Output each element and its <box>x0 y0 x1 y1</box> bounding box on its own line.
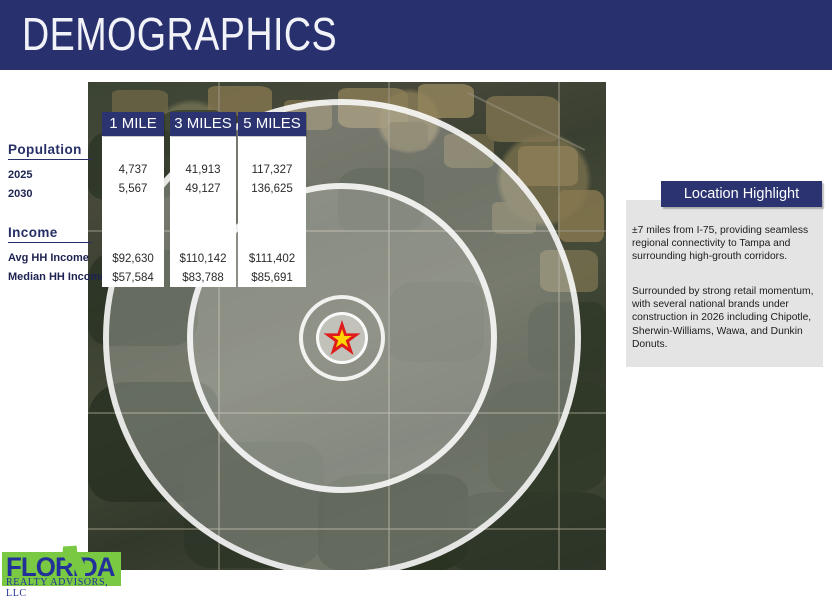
logo-tagline: REALTY ADVISORS, LLC <box>6 577 121 599</box>
map-forest-patch <box>184 442 324 568</box>
map-road <box>88 528 606 530</box>
cell-1mile-median-income: $57,584 <box>102 269 164 288</box>
cell-1mile-avg-income: $92,630 <box>102 250 164 269</box>
demographics-column-5miles-panel: 117,327 136,625 $111,402 $85,691 <box>238 133 306 287</box>
location-highlight-paragraph-1: ±7 miles from I-75, providing seamless r… <box>632 224 814 264</box>
map-field-patch <box>388 122 428 150</box>
section-heading-income: Income <box>8 225 100 242</box>
section-heading-population: Population <box>8 142 100 159</box>
cell-5miles-pop-2030: 136,625 <box>238 180 306 199</box>
map-field-patch <box>444 134 494 168</box>
cell-5miles-pop-2025: 117,327 <box>238 161 306 180</box>
company-logo[interactable]: FLORIDA REALTY ADVISORS, LLC <box>2 533 121 586</box>
map-field-patch <box>558 190 604 242</box>
column-header-5miles[interactable]: 5 MILES <box>238 112 306 136</box>
map-forest-patch <box>388 282 484 362</box>
row-label-2030: 2030 <box>8 185 100 204</box>
section-rule <box>8 159 92 160</box>
map-forest-patch <box>338 168 424 232</box>
map-forest-patch <box>448 492 606 570</box>
satellite-imagery <box>88 82 606 570</box>
demographics-row-labels: Population 2025 2030 Income Avg HH Incom… <box>8 142 100 287</box>
demographics-column-3miles-panel: 41,913 49,127 $110,142 $83,788 <box>170 133 236 287</box>
map-field-patch <box>418 84 474 118</box>
row-label-2025: 2025 <box>8 166 100 185</box>
map-forest-patch <box>318 474 468 570</box>
cell-3miles-pop-2025: 41,913 <box>170 161 236 180</box>
section-rule <box>8 242 92 243</box>
map-road <box>388 82 390 570</box>
map-forest-patch <box>488 382 606 492</box>
star-marker[interactable] <box>316 312 368 364</box>
cell-3miles-median-income: $83,788 <box>170 269 236 288</box>
cell-5miles-median-income: $85,691 <box>238 269 306 288</box>
map-field-patch <box>518 146 578 186</box>
income-section: Income Avg HH Income Median HH Income <box>8 225 100 287</box>
demographics-column-1mile-panel: 4,737 5,567 $92,630 $57,584 <box>102 133 164 287</box>
page-title: DEMOGRAPHICS <box>22 6 337 62</box>
map-road <box>88 230 606 232</box>
cell-1mile-pop-2030: 5,567 <box>102 180 164 199</box>
map-road <box>88 412 606 414</box>
map-forest-patch <box>528 302 606 372</box>
map-field-patch <box>540 250 598 292</box>
map-road <box>558 82 560 570</box>
page-header-bar: DEMOGRAPHICS <box>0 0 832 70</box>
aerial-map[interactable] <box>88 82 606 570</box>
location-highlight-title: Location Highlight <box>661 181 822 207</box>
column-header-1mile[interactable]: 1 MILE <box>102 112 164 136</box>
row-label-avg-hh-income: Avg HH Income <box>8 249 100 268</box>
cell-3miles-avg-income: $110,142 <box>170 250 236 269</box>
row-label-median-hh-income: Median HH Income <box>8 268 100 287</box>
column-header-3miles[interactable]: 3 MILES <box>170 112 236 136</box>
cell-3miles-pop-2030: 49,127 <box>170 180 236 199</box>
location-highlight-paragraph-2: Surrounded by strong retail momentum, wi… <box>632 285 814 351</box>
cell-1mile-pop-2025: 4,737 <box>102 161 164 180</box>
population-section: Population 2025 2030 <box>8 142 100 204</box>
cell-5miles-avg-income: $111,402 <box>238 250 306 269</box>
